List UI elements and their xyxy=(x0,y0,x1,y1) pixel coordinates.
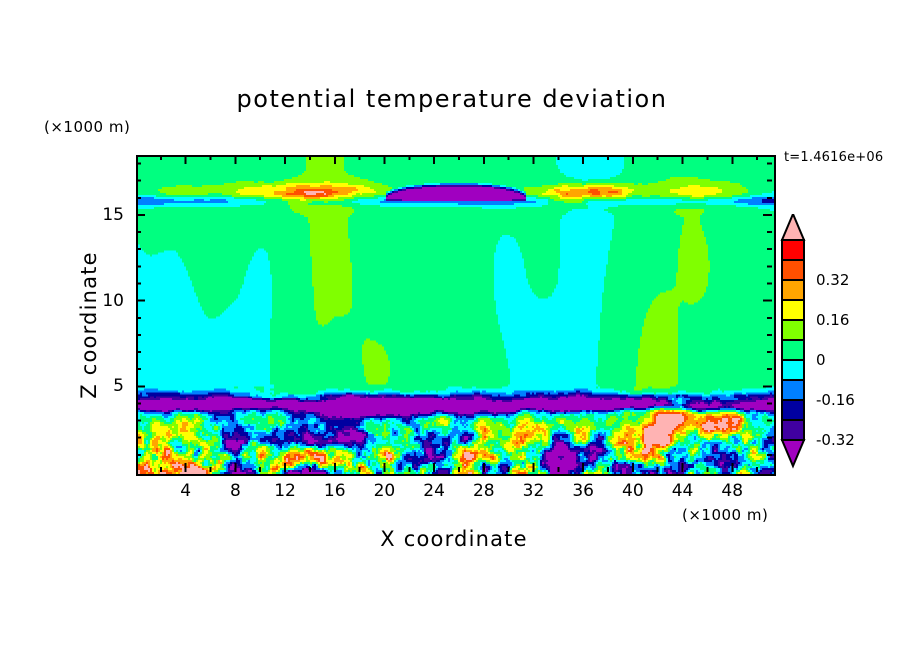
x-axis-title: X coordinate xyxy=(136,527,772,551)
figure-canvas: potential temperature deviation (×1000 m… xyxy=(0,0,904,654)
page-title: potential temperature deviation xyxy=(0,85,904,113)
x-tick-label: 24 xyxy=(423,481,445,501)
colorbar-tick-label: -0.16 xyxy=(816,391,855,409)
colorbar-tick-label: 0.16 xyxy=(816,311,849,329)
z-axis-unit-label: (×1000 m) xyxy=(44,118,130,136)
x-tick-label: 16 xyxy=(324,481,346,501)
time-annotation: t=1.4616e+06 xyxy=(784,150,883,165)
x-tick-label: 36 xyxy=(572,481,594,501)
y-tick-label: 5 xyxy=(90,376,124,396)
y-tick-label: 10 xyxy=(90,291,124,311)
x-tick-label: 44 xyxy=(672,481,694,501)
x-tick-label: 20 xyxy=(374,481,396,501)
y-tick-label: 15 xyxy=(90,205,124,225)
contour-field xyxy=(138,157,774,474)
x-tick-label: 32 xyxy=(523,481,545,501)
colorbar-tick-label: -0.32 xyxy=(816,431,855,449)
contour-plot-area xyxy=(136,155,776,476)
x-tick-label: 8 xyxy=(230,481,241,501)
x-tick-label: 4 xyxy=(180,481,191,501)
y-axis-title: Z coordinate xyxy=(77,195,101,455)
colorbar-tick-label: 0.32 xyxy=(816,271,849,289)
x-tick-label: 28 xyxy=(473,481,495,501)
x-tick-label: 48 xyxy=(721,481,743,501)
x-tick-label: 12 xyxy=(274,481,296,501)
x-axis-unit-label: (×1000 m) xyxy=(682,506,768,524)
x-tick-label: 40 xyxy=(622,481,644,501)
colorbar xyxy=(778,214,904,519)
colorbar-tick-label: 0 xyxy=(816,351,826,369)
